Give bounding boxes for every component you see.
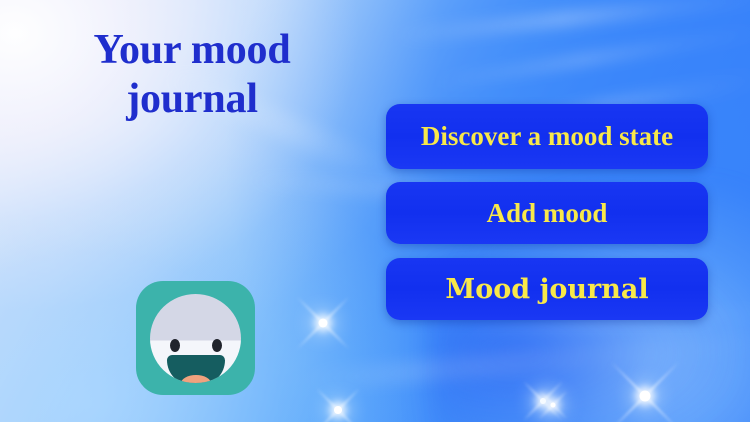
sparkle-ray [522, 380, 563, 421]
discover-a-mood-state-button[interactable]: Discover a mood state [386, 104, 708, 169]
smiley-face [150, 294, 241, 383]
light-streak [392, 0, 750, 44]
mood-journal-button[interactable]: Mood journal [386, 258, 708, 320]
light-streak [300, 330, 750, 393]
smile-mouth-icon [167, 355, 225, 383]
eye-left-icon [170, 339, 180, 352]
sparkle-ray [315, 387, 360, 422]
sparkle-core [334, 406, 342, 414]
eye-right-icon [212, 339, 222, 352]
app-screen: Your mood journal Discover a mood state … [0, 0, 750, 422]
sparkle-icon [533, 385, 573, 422]
sparkle-ray [538, 390, 568, 420]
daylio-smiley-app-icon[interactable] [136, 281, 255, 395]
light-streak [431, 25, 750, 88]
page-title: Your mood journal [0, 26, 384, 124]
sparkle-core [540, 398, 546, 404]
sparkle-ray [610, 361, 679, 422]
sparkle-icon [286, 286, 360, 360]
sparkle-ray [610, 361, 679, 422]
sparkle-core [640, 391, 651, 402]
sparkle-ray [296, 296, 350, 350]
sparkle-icon [597, 348, 693, 422]
sparkle-ray [538, 390, 568, 420]
tongue-icon [181, 375, 211, 383]
sparkle-core [551, 403, 556, 408]
sparkle-icon [307, 379, 369, 422]
sparkle-ray [296, 296, 350, 350]
sparkle-ray [315, 387, 360, 422]
sparkle-icon [515, 373, 571, 422]
sparkle-ray [522, 380, 563, 421]
sparkle-core [319, 319, 328, 328]
add-mood-button[interactable]: Add mood [386, 182, 708, 244]
